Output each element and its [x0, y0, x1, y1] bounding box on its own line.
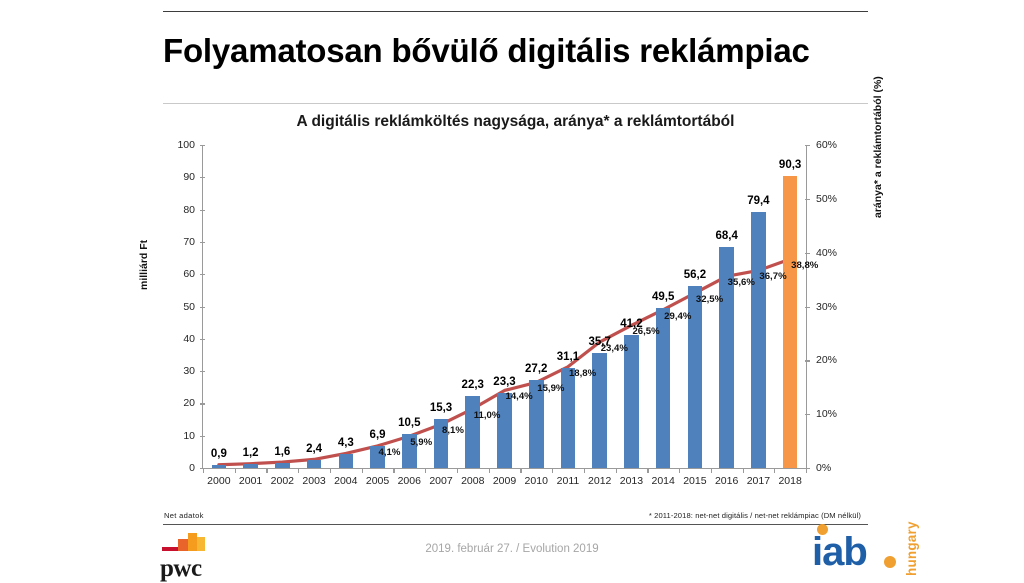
- iab-period-dot-icon: [884, 556, 896, 568]
- x-axis-tick: [393, 468, 394, 473]
- y-axis-right-tick-label: 30%: [816, 301, 837, 313]
- line-percent-label-2009: 14,4%: [506, 391, 533, 402]
- bar-2000: [212, 465, 227, 468]
- x-axis-tick: [679, 468, 680, 473]
- x-axis-tick: [362, 468, 363, 473]
- header-divider: [163, 11, 868, 12]
- y-axis-left-tick-label: 40: [167, 333, 195, 345]
- x-axis-tick: [457, 468, 458, 473]
- y-axis-left-tick-label: 60: [167, 268, 195, 280]
- bar-2004: [339, 454, 354, 468]
- iab-logo: iab hungary: [812, 518, 924, 578]
- bar-2017: [751, 212, 766, 468]
- x-axis-tick: [806, 468, 807, 473]
- y-axis-right-tick-label: 40%: [816, 247, 837, 259]
- slide: Folyamatosan bővülő digitális reklámpiac…: [0, 0, 1024, 578]
- content-divider: [163, 103, 868, 104]
- y-axis-left-tick-label: 90: [167, 171, 195, 183]
- x-axis-line: [202, 468, 808, 469]
- bar-value-label-2011: 31,1: [544, 351, 592, 363]
- y-axis-left-tick-label: 10: [167, 430, 195, 442]
- bar-value-label-2016: 68,4: [703, 230, 751, 242]
- y-axis-left-title: milliárd Ft: [138, 240, 150, 290]
- bar-series: [203, 145, 806, 468]
- bar-value-label-2005: 6,9: [354, 429, 402, 441]
- y-axis-right-title: aránya* a reklámtortából (%): [872, 76, 884, 218]
- bar-2008: [465, 396, 480, 468]
- y-axis-left-tick-label: 80: [167, 204, 195, 216]
- y-axis-right-tick-label: 0%: [816, 462, 831, 474]
- y-axis-left-tick-label: 20: [167, 397, 195, 409]
- bar-value-label-2009: 23,3: [481, 376, 529, 388]
- iab-hungary-label: hungary: [904, 521, 919, 576]
- bar-value-label-2015: 56,2: [671, 269, 719, 281]
- line-percent-label-2010: 15,9%: [537, 383, 564, 394]
- pwc-mark-bar2: [178, 539, 188, 551]
- bar-2013: [624, 335, 639, 468]
- bar-2003: [307, 460, 322, 468]
- x-axis-tick: [711, 468, 712, 473]
- line-percent-label-2006: 5,9%: [410, 437, 432, 448]
- line-percent-label-2013: 26,5%: [632, 326, 659, 337]
- bar-value-label-2017: 79,4: [734, 195, 782, 207]
- bar-value-label-2007: 15,3: [417, 402, 465, 414]
- x-axis-tick: [743, 468, 744, 473]
- x-axis-tick: [552, 468, 553, 473]
- y-axis-left-tick-label: 50: [167, 301, 195, 313]
- bar-2018: [783, 176, 798, 468]
- bar-value-label-2006: 10,5: [385, 417, 433, 429]
- y-axis-left-tick-label: 0: [167, 462, 195, 474]
- line-percent-label-2012: 23,4%: [601, 343, 628, 354]
- bar-value-label-2014: 49,5: [639, 291, 687, 303]
- bar-2002: [275, 463, 290, 468]
- x-axis-tick: [235, 468, 236, 473]
- pwc-wordmark: pwc: [160, 555, 202, 583]
- x-axis-tick: [203, 468, 204, 473]
- pwc-logo: pwc: [160, 531, 280, 577]
- x-axis-label-2018: 2018: [768, 475, 812, 487]
- y-axis-left-tick-label: 70: [167, 236, 195, 248]
- pwc-mark-bar1: [162, 547, 178, 551]
- bar-value-label-2010: 27,2: [512, 363, 560, 375]
- page-title: Folyamatosan bővülő digitális reklámpiac: [163, 32, 923, 70]
- x-axis-tick: [489, 468, 490, 473]
- y-axis-right-tick-label: 50%: [816, 193, 837, 205]
- y-axis-right-tick-label: 60%: [816, 139, 837, 151]
- chart-title: A digitális reklámköltés nagysága, arány…: [163, 113, 868, 131]
- x-axis-tick: [616, 468, 617, 473]
- x-axis-tick: [647, 468, 648, 473]
- pwc-mark-bar3: [188, 533, 197, 551]
- line-percent-label-2018: 38,8%: [791, 260, 818, 271]
- iab-wordmark: iab: [812, 532, 867, 572]
- x-axis-tick: [584, 468, 585, 473]
- y-axis-right-tick-label: 10%: [816, 408, 837, 420]
- x-axis-tick: [774, 468, 775, 473]
- y-axis-left-tick-label: 30: [167, 365, 195, 377]
- line-percent-label-2011: 18,8%: [569, 368, 596, 379]
- line-percent-label-2015: 32,5%: [696, 294, 723, 305]
- x-axis-tick: [330, 468, 331, 473]
- line-percent-label-2008: 11,0%: [474, 410, 501, 421]
- bar-2009: [497, 393, 512, 468]
- pwc-mark-bar4: [197, 537, 205, 551]
- note-left: Net adatok: [164, 511, 204, 520]
- x-axis-tick: [298, 468, 299, 473]
- line-percent-label-2005: 4,1%: [379, 447, 401, 458]
- bar-value-label-2018: 90,3: [766, 159, 814, 171]
- line-percent-label-2017: 36,7%: [759, 271, 786, 282]
- footer-divider: [163, 524, 868, 525]
- y-axis-left-tick-label: 100: [167, 139, 195, 151]
- x-axis-tick: [266, 468, 267, 473]
- bar-2001: [243, 464, 258, 468]
- line-percent-label-2014: 29,4%: [664, 311, 691, 322]
- line-percent-label-2007: 8,1%: [442, 425, 464, 436]
- x-axis-tick: [520, 468, 521, 473]
- x-axis-tick: [425, 468, 426, 473]
- y-axis-right-tick-label: 20%: [816, 354, 837, 366]
- line-percent-label-2016: 35,6%: [728, 277, 755, 288]
